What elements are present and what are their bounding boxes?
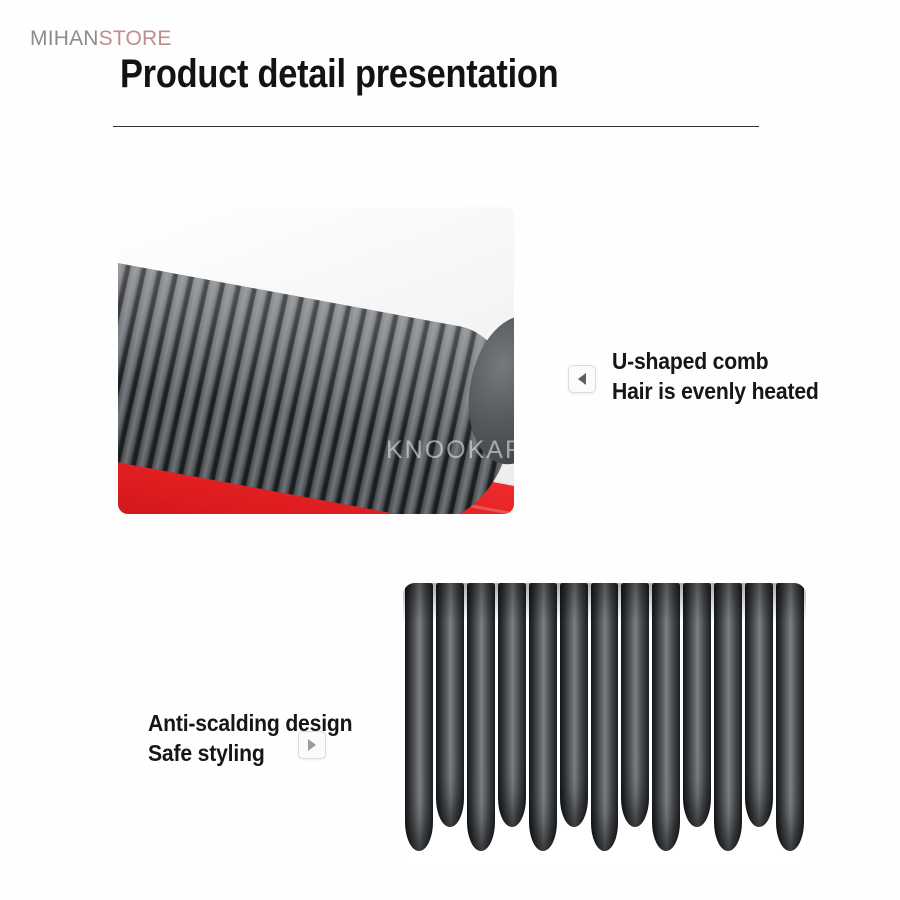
triangle-right-glyph xyxy=(308,739,316,751)
feature-caption-line-2: Hair is evenly heated xyxy=(612,376,819,406)
comb-tooth xyxy=(714,583,742,851)
brand-logo: MIHANSTORE xyxy=(30,27,172,51)
comb-tooth xyxy=(591,583,619,851)
comb-tooth xyxy=(498,583,526,827)
triangle-left-glyph xyxy=(578,373,586,385)
brand-logo-store: STORE xyxy=(99,27,172,50)
product-image-comb-top: KNOOKAR xyxy=(118,207,514,514)
comb-tooth xyxy=(683,583,711,827)
comb-tooth xyxy=(436,583,464,827)
comb-tooth xyxy=(560,583,588,827)
comb-tooth xyxy=(652,583,680,851)
comb-tooth xyxy=(405,583,433,851)
comb-tooth xyxy=(621,583,649,827)
photo-backdrop: KNOOKAR xyxy=(118,207,514,514)
photo-backdrop-2 xyxy=(403,583,806,866)
page-title: Product detail presentation xyxy=(120,52,558,97)
feature-caption-line-1: U-shaped comb xyxy=(612,346,819,376)
comb-tooth xyxy=(745,583,773,827)
comb-tooth xyxy=(467,583,495,851)
triangle-left-icon[interactable] xyxy=(568,365,596,393)
comb-teeth-row xyxy=(403,583,806,851)
feature-caption-u-shaped-comb: U-shaped comb Hair is evenly heated xyxy=(612,346,819,406)
comb-tooth xyxy=(529,583,557,851)
product-image-comb-teeth xyxy=(403,583,806,866)
triangle-right-icon[interactable] xyxy=(298,731,326,759)
brand-logo-mihan: MIHAN xyxy=(30,27,99,50)
comb-tooth xyxy=(776,583,804,851)
title-divider xyxy=(113,126,759,127)
